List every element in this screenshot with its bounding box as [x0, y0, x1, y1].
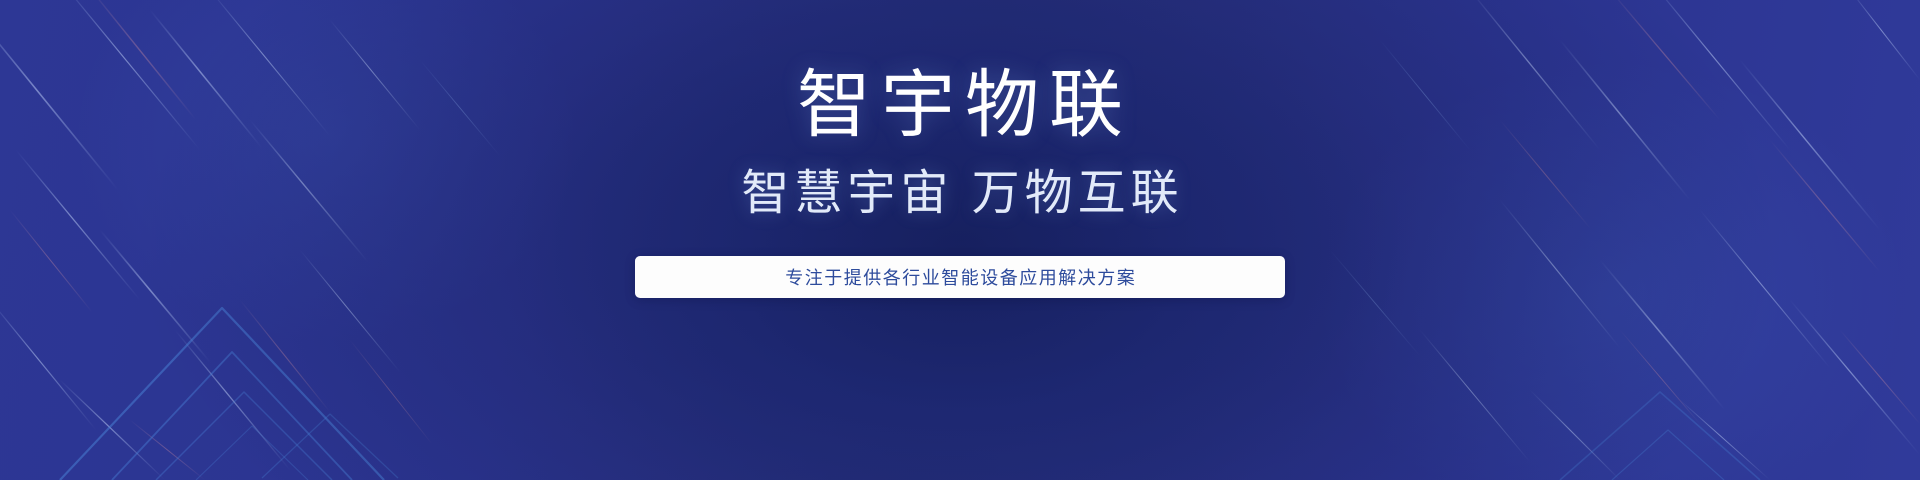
tagline-button-label: 专注于提供各行业智能设备应用解决方案	[784, 264, 1137, 290]
banner-content: 智宇物联 智慧宇宙 万物互联 专注于提供各行业智能设备应用解决方案	[0, 0, 1920, 480]
tagline-button[interactable]: 专注于提供各行业智能设备应用解决方案	[635, 256, 1285, 298]
page-title: 智宇物联	[0, 68, 1920, 142]
hero-banner: 智宇物联 智慧宇宙 万物互联 专注于提供各行业智能设备应用解决方案	[0, 0, 1920, 480]
banner-subtitle: 智慧宇宙 万物互联	[0, 170, 1920, 218]
